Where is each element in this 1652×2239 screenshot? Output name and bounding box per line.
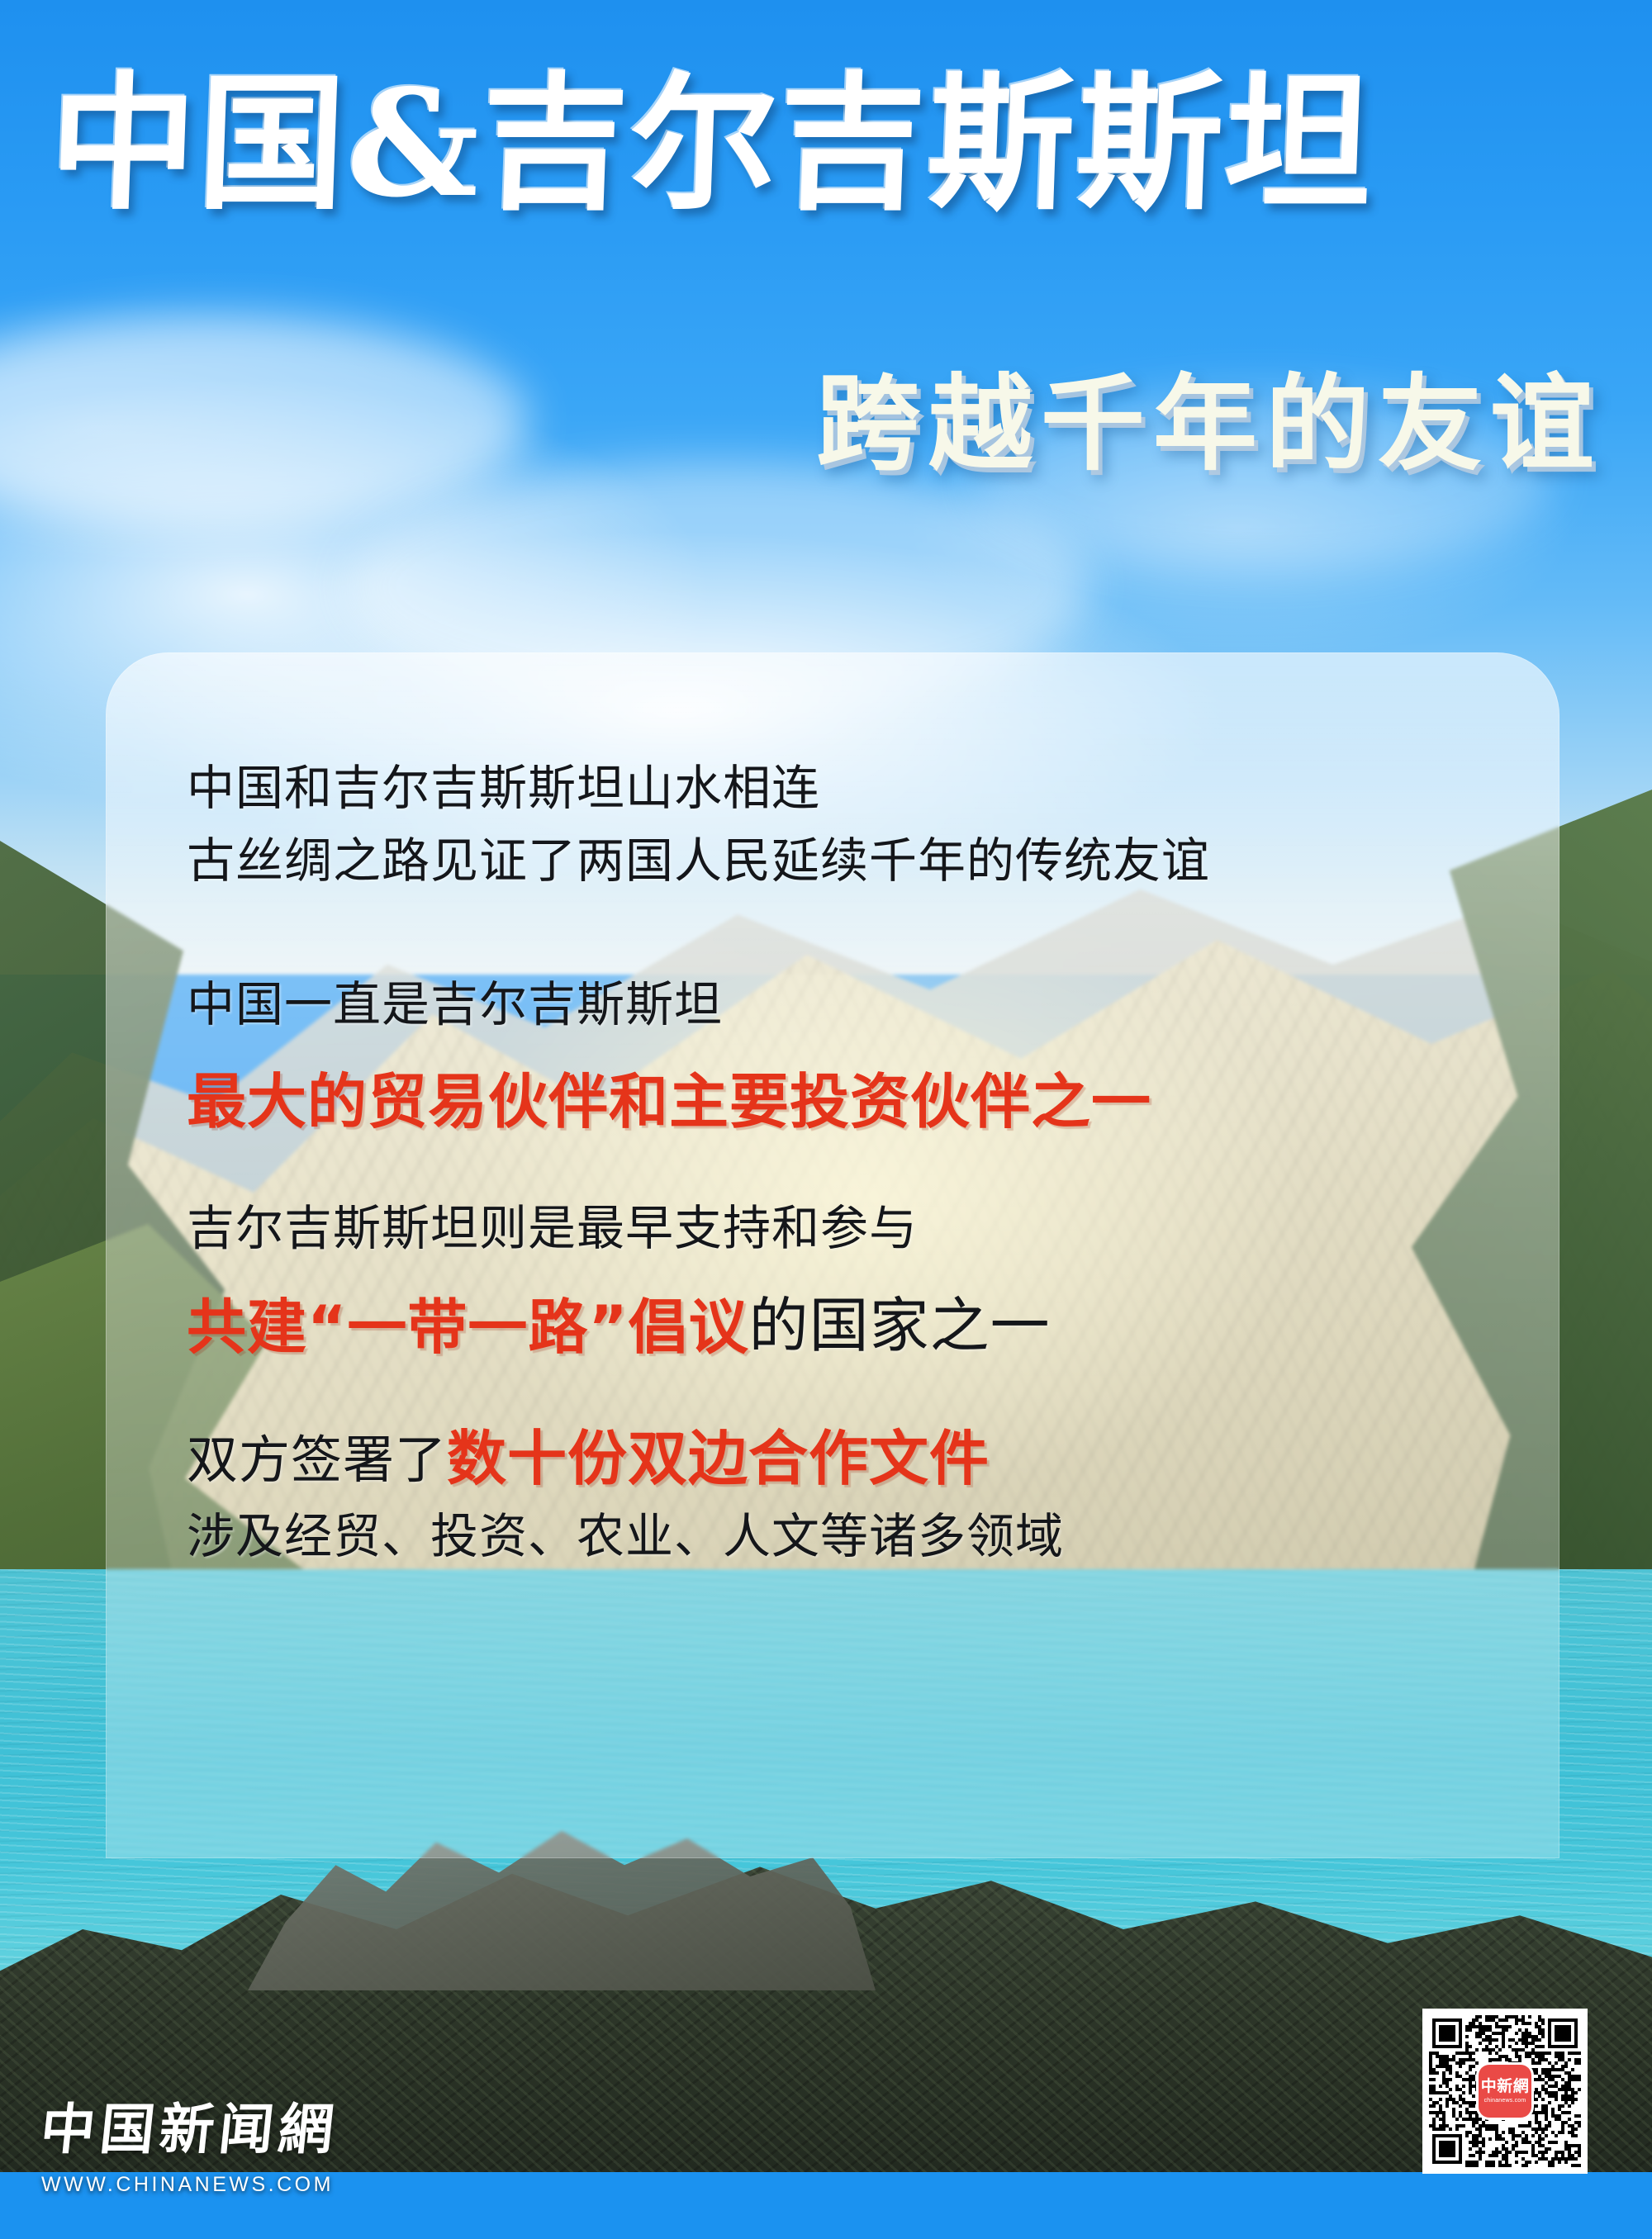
p3-line-2-tail: 的国家之一	[749, 1291, 1051, 1360]
p2-line-2: 最大的贸易伙伴和主要投资伙伴之一	[187, 1062, 1502, 1141]
qr-center-badge: 中新網 chinanews.com	[1479, 2065, 1531, 2118]
content-card-body: 中国和吉尔吉斯斯坦山水相连 古丝绸之路见证了两国人民延续千年的传统友谊 中国一直…	[187, 752, 1502, 1573]
watermark-url: WWW.CHINANEWS.COM	[41, 2173, 388, 2197]
highlight-bilateral-documents: 数十份双边合作文件	[447, 1424, 990, 1493]
p4-line-1: 双方签署了数十份双边合作文件	[187, 1417, 1502, 1501]
p1-line-2: 古丝绸之路见证了两国人民延续千年的传统友谊	[187, 824, 1502, 897]
content-card: 中国和吉尔吉斯斯坦山水相连 古丝绸之路见证了两国人民延续千年的传统友谊 中国一直…	[106, 652, 1559, 1858]
highlight-trade-partner: 最大的贸易伙伴和主要投资伙伴之一	[187, 1067, 1151, 1136]
qr-badge-label: 中新網	[1481, 2079, 1530, 2094]
highlight-belt-and-road: 共建“一带一路”倡议	[187, 1293, 749, 1362]
p4-line-1-head: 双方签署了	[187, 1430, 447, 1490]
p3-line-1: 吉尔吉斯斯坦则是最早支持和参与	[187, 1192, 1502, 1264]
poster-root: 中国&吉尔吉斯斯坦 跨越千年的友谊 中国和吉尔吉斯斯坦山水相连 古丝绸之路见证了…	[0, 0, 1652, 2239]
watermark-logo-text: 中国新闻網	[37, 2085, 392, 2165]
p2-line-1: 中国一直是吉尔吉斯斯坦	[187, 968, 1502, 1041]
paragraph-1: 中国和吉尔吉斯斯坦山水相连 古丝绸之路见证了两国人民延续千年的传统友谊	[187, 752, 1502, 897]
p3-line-2: 共建“一带一路”倡议的国家之一	[187, 1286, 1502, 1367]
p1-line-1: 中国和吉尔吉斯斯坦山水相连	[187, 752, 1502, 824]
paragraph-3: 吉尔吉斯斯坦则是最早支持和参与 共建“一带一路”倡议的国家之一	[187, 1192, 1502, 1368]
paragraph-4: 双方签署了数十份双边合作文件 涉及经贸、投资、农业、人文等诸多领域	[187, 1417, 1502, 1573]
paragraph-2: 中国一直是吉尔吉斯斯坦 最大的贸易伙伴和主要投资伙伴之一	[187, 968, 1502, 1142]
qr-code[interactable]: 中新網 chinanews.com	[1422, 2009, 1588, 2174]
poster-subtitle: 跨越千年的友谊	[816, 372, 1602, 476]
poster-title: 中国&吉尔吉斯斯坦	[47, 66, 1606, 222]
qr-badge-url: chinanews.com	[1484, 2098, 1526, 2104]
p4-line-2: 涉及经贸、投资、农业、人文等诸多领域	[187, 1500, 1502, 1573]
watermark: 中国新闻網 WWW.CHINANEWS.COM	[41, 2085, 388, 2197]
